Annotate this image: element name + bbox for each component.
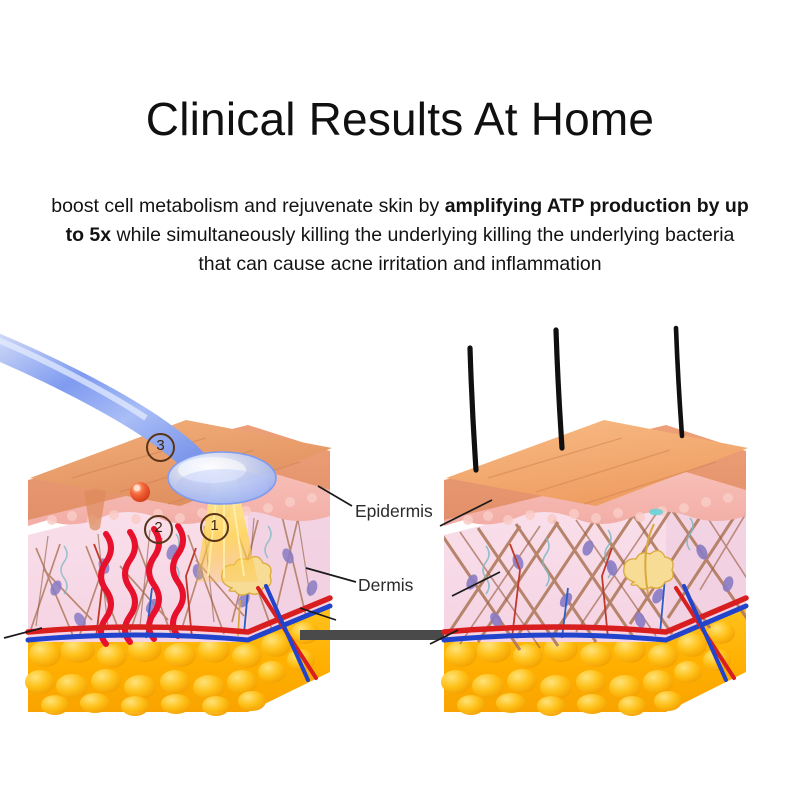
- wand-disc-shadow: [176, 469, 268, 503]
- inflamed-pimple: [130, 482, 150, 502]
- subtitle-part-1: boost cell metabolism and rejuvenate ski…: [51, 195, 444, 217]
- marker-2: 2: [144, 515, 173, 544]
- page-title: Clinical Results At Home: [0, 92, 800, 146]
- marker-1: 1: [200, 513, 229, 542]
- page-subtitle: boost cell metabolism and rejuvenate ski…: [48, 192, 752, 279]
- label-dermis: Dermis: [358, 575, 413, 596]
- subtitle-part-2: while simultaneously killing the underly…: [111, 224, 734, 275]
- right-skin-block: [440, 328, 748, 716]
- page-root: Clinical Results At Home boost cell meta…: [0, 0, 800, 800]
- marker-3: 3: [146, 433, 175, 462]
- skin-diagram-svg: [0, 320, 800, 790]
- wand-highlight: [0, 336, 146, 418]
- label-epidermis: Epidermis: [355, 501, 433, 522]
- skin-diagram-stage: Epidermis Dermis 3 2 1: [0, 320, 800, 790]
- sweat-pore-marker: [649, 509, 663, 516]
- pimple-highlight: [134, 485, 141, 492]
